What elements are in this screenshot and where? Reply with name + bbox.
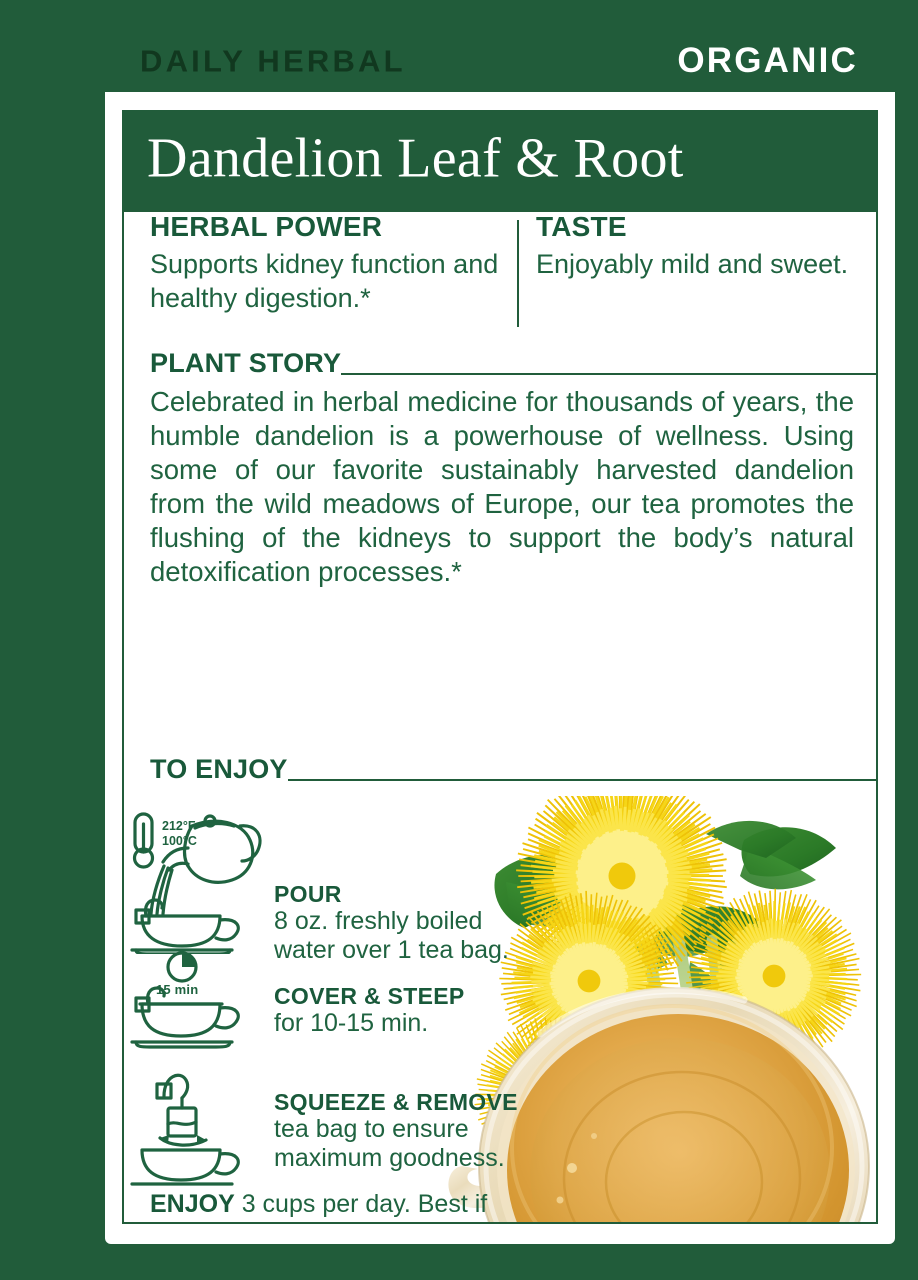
brewing-steps: 212°F 100°C — [124, 804, 544, 1182]
benefits-row: HERBAL POWER Supports kidney function an… — [124, 212, 876, 352]
content-frame: HERBAL POWER Supports kidney function an… — [122, 212, 878, 1224]
taste-column: TASTE Enjoyably mild and sweet. — [536, 212, 866, 282]
daily-herbal-tab: DAILY HERBAL — [105, 32, 600, 92]
product-title: Dandelion Leaf & Root — [147, 126, 684, 190]
to-enjoy-section: TO ENJOY — [124, 756, 876, 783]
squeeze-remove-copy: SQUEEZE & REMOVE tea bag to ensure maxim… — [274, 1062, 544, 1173]
covered-cup-timer-icon: 15 min — [124, 950, 274, 1062]
taste-body: Enjoyably mild and sweet. — [536, 248, 866, 281]
squeeze-remove-description: tea bag to ensure maximum goodness. — [274, 1115, 544, 1173]
herbal-power-heading: HERBAL POWER — [150, 212, 510, 241]
daily-herbal-tab-label: DAILY HERBAL — [140, 43, 406, 79]
to-enjoy-heading: TO ENJOY — [150, 756, 288, 783]
cover-steep-copy: COVER & STEEP for 10-15 min. — [274, 950, 465, 1038]
plant-story-body: Celebrated in herbal medicine for thousa… — [124, 377, 876, 589]
tea-package-label: DAILY HERBAL ORGANIC Dandelion Leaf & Ro… — [0, 0, 918, 1280]
label-card: Dandelion Leaf & Root HERBAL POWER Suppo… — [105, 92, 895, 1244]
plant-story-rule — [341, 373, 876, 375]
to-enjoy-rule — [288, 779, 876, 781]
enjoy-footer: ENJOY 3 cups per day. Best if drunk dail… — [150, 1189, 550, 1224]
herbal-power-body: Supports kidney function and healthy dig… — [150, 248, 510, 315]
enjoy-lead: ENJOY — [150, 1190, 235, 1218]
teapot-pour-icon: 212°F 100°C — [124, 804, 274, 954]
organic-badge: ORGANIC — [677, 41, 858, 81]
brew-step-squeeze-remove: SQUEEZE & REMOVE tea bag to ensure maxim… — [124, 1062, 544, 1182]
dandelion-leaves — [494, 821, 836, 1048]
plant-story-heading: PLANT STORY — [150, 350, 341, 377]
temp-c-label: 100°C — [162, 834, 197, 848]
product-title-bar: Dandelion Leaf & Root — [122, 110, 878, 212]
cover-steep-description: for 10-15 min. — [274, 1009, 465, 1038]
brew-step-pour: 212°F 100°C — [124, 804, 544, 956]
to-enjoy-heading-rule: TO ENJOY — [124, 756, 876, 783]
plant-story-heading-rule: PLANT STORY — [124, 350, 876, 377]
plant-story-section: PLANT STORY Celebrated in herbal medicin… — [124, 350, 876, 589]
cover-steep-title: COVER & STEEP — [274, 984, 465, 1009]
herbal-power-column: HERBAL POWER Supports kidney function an… — [150, 212, 510, 315]
squeeze-remove-title: SQUEEZE & REMOVE — [274, 1090, 544, 1115]
taste-heading: TASTE — [536, 212, 866, 241]
column-divider — [517, 220, 519, 327]
squeeze-teabag-icon — [124, 1062, 274, 1186]
pour-title: POUR — [274, 882, 544, 907]
brew-step-cover-steep: 15 min — [124, 950, 544, 1062]
pour-copy: POUR 8 oz. freshly boiled water over 1 t… — [274, 804, 544, 965]
